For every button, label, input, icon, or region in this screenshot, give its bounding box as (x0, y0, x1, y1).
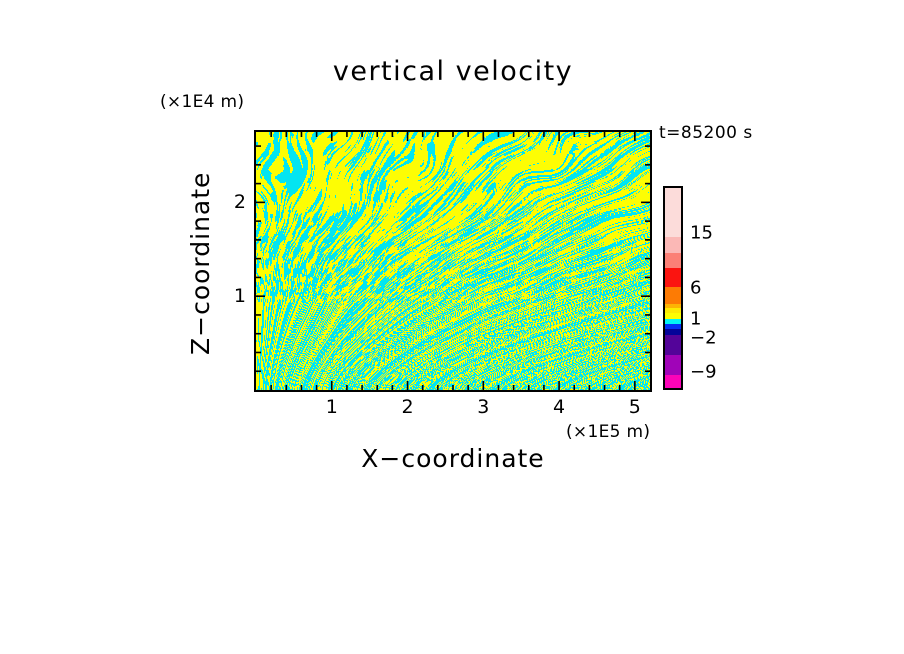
colorbar-band (665, 188, 681, 237)
colorbar-band (665, 355, 681, 375)
y-tick-label: 1 (230, 285, 246, 307)
x-tick-label: 3 (477, 396, 489, 418)
colorbar-band (665, 268, 681, 287)
timestamp-annotation: t=85200 s (659, 123, 753, 143)
colorbar-band (665, 237, 681, 253)
y-axis-title: Z−coordinate (188, 168, 214, 358)
plot-area[interactable] (254, 130, 652, 392)
colorbar-tick-label: 6 (690, 278, 701, 299)
x-unit-label: (×1E5 m) (566, 422, 650, 442)
colorbar-band (665, 335, 681, 355)
colorbar[interactable] (663, 186, 683, 390)
colorbar-tick-label: 1 (690, 309, 701, 330)
y-unit-label: (×1E4 m) (160, 92, 244, 112)
colorbar-band (665, 375, 681, 388)
page-title: vertical velocity (254, 56, 652, 87)
x-tick-label: 1 (326, 396, 338, 418)
figure-root: vertical velocity (×1E4 m) t=85200 s Z−c… (0, 0, 904, 654)
colorbar-tick-label: −2 (690, 328, 717, 349)
heatmap-canvas (256, 132, 650, 390)
colorbar-band (665, 287, 681, 304)
x-tick-label: 5 (629, 396, 641, 418)
y-tick-label: 2 (230, 191, 246, 213)
x-tick-label: 4 (553, 396, 565, 418)
x-axis-title: X−coordinate (254, 444, 652, 473)
colorbar-band (665, 253, 681, 268)
colorbar-tick-label: −9 (690, 362, 717, 383)
colorbar-tick-label: 15 (690, 223, 713, 244)
x-tick-label: 2 (401, 396, 413, 418)
